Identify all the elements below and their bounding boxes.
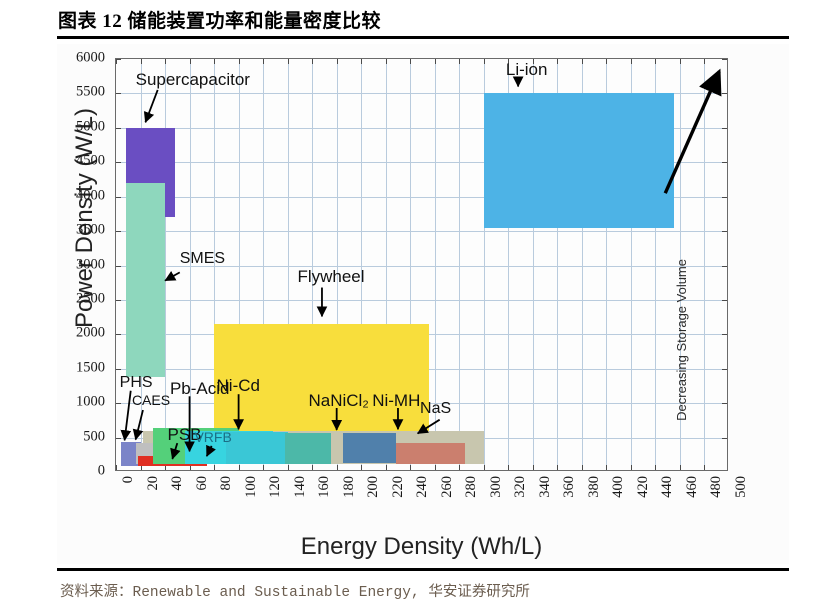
- x-tick-label: 480: [708, 476, 725, 498]
- y-tick-label: 1500: [76, 359, 105, 376]
- x-tick-label: 200: [365, 476, 382, 498]
- footer-rule: [57, 568, 789, 571]
- x-tick-label: 80: [218, 476, 235, 491]
- x-tick-label: 500: [733, 476, 750, 498]
- x-tick-label: 300: [488, 476, 505, 498]
- x-tick-label: 360: [561, 476, 578, 498]
- y-tick-label: 5500: [76, 84, 105, 101]
- y-axis-tick-labels: 0500100015002000250030003500400045005000…: [57, 58, 111, 471]
- plot-area: SupercapacitorSMESFlywheelLi-ionNaSPHSCA…: [115, 58, 728, 471]
- x-tick-label: 420: [635, 476, 652, 498]
- y-tick-label: 500: [83, 428, 105, 445]
- x-tick-label: 120: [267, 476, 284, 498]
- figure-page: 图表 12 储能装置功率和能量密度比较 · · · · Power Densit…: [0, 0, 816, 612]
- x-tick-label: 440: [659, 476, 676, 498]
- x-tick-label: 260: [439, 476, 456, 498]
- y-tick-label: 5000: [76, 118, 105, 135]
- leader-arrow: [125, 391, 131, 441]
- leader-arrow: [136, 410, 143, 440]
- x-tick-label: 0: [120, 476, 137, 483]
- x-tick-label: 240: [414, 476, 431, 498]
- leader-arrow: [165, 272, 180, 280]
- y-tick-label: 3000: [76, 256, 105, 273]
- y-tick-label: 4000: [76, 187, 105, 204]
- plot-inner: SupercapacitorSMESFlywheelLi-ionNaSPHSCA…: [116, 59, 727, 470]
- page-title: 图表 12 储能装置功率和能量密度比较: [58, 6, 381, 33]
- x-tick-label: 20: [145, 476, 162, 491]
- x-tick-label: 280: [463, 476, 480, 498]
- x-tick-label: 460: [684, 476, 701, 498]
- x-tick-label: 220: [390, 476, 407, 498]
- x-axis-title: Energy Density (Wh/L): [115, 533, 728, 561]
- leader-arrow: [172, 443, 177, 459]
- y-tick-label: 1000: [76, 394, 105, 411]
- x-tick-label: 100: [243, 476, 260, 498]
- x-tick-label: 180: [341, 476, 358, 498]
- x-tick-label: 320: [512, 476, 529, 498]
- x-tick-label: 140: [292, 476, 309, 498]
- x-tick-label: 400: [610, 476, 627, 498]
- header-rule: [57, 36, 757, 39]
- y-tick-label: 0: [98, 463, 105, 480]
- clipped-chart-title: · · · ·: [247, 42, 767, 54]
- y-tick-label: 2000: [76, 325, 105, 342]
- x-tick-label: 40: [169, 476, 186, 491]
- x-tick-label: 340: [537, 476, 554, 498]
- x-tick-label: 160: [316, 476, 333, 498]
- y-tick-label: 3500: [76, 222, 105, 239]
- source-note: 资料来源：Renewable and Sustainable Energy, 华…: [60, 580, 530, 601]
- y-tick-label: 4500: [76, 153, 105, 170]
- annotation-arrows: [116, 59, 727, 470]
- clipped-chart-title-text: · · · ·: [247, 42, 279, 48]
- x-tick-label: 380: [586, 476, 603, 498]
- chart-figure: · · · · Power Density (W/L) Energy Densi…: [57, 44, 789, 564]
- header-rule-right: [727, 36, 789, 39]
- x-tick-label: 60: [194, 476, 211, 491]
- leader-arrow: [207, 446, 212, 456]
- y-tick-label: 2500: [76, 290, 105, 307]
- leader-arrow: [145, 90, 157, 122]
- x-axis-tick-labels: 0204060801001201401601802002202402602803…: [115, 476, 728, 532]
- decreasing-volume-arrow: [665, 71, 719, 193]
- y-tick-label: 6000: [76, 50, 105, 67]
- leader-arrow: [418, 420, 440, 434]
